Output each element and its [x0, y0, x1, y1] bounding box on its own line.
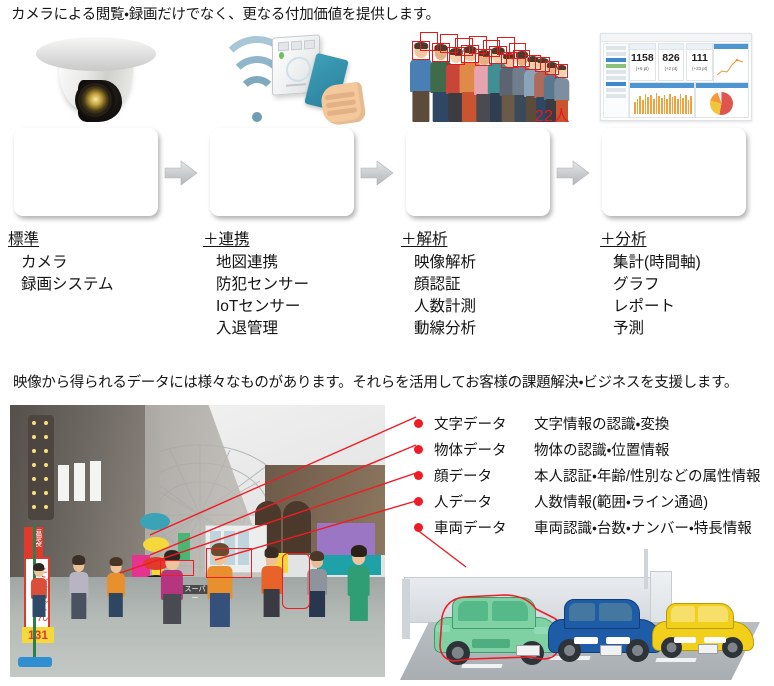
legend-desc: 車両認識・台数・ナンバー・特長情報	[534, 517, 752, 538]
feature-item: 動線分析	[401, 318, 476, 340]
kpi-card: 111 (+23 pt)	[686, 43, 713, 81]
dashboard-bar	[690, 96, 692, 114]
feature-column-2-title: ＋連携	[203, 229, 250, 251]
object-detection-outline	[282, 553, 310, 609]
kpi-card: 1158 (+6 pt)	[629, 43, 656, 81]
flow-box-4-label: ビジネスに活用する	[620, 142, 728, 202]
feature-item: 入退管理	[203, 318, 309, 340]
analytics-dashboard-image: 1158 (+6 pt) 826 (+2 pt) 111 (+23 pt)	[600, 33, 752, 121]
data-type-legend: 文字データ 文字情報の認識・変換 物体データ 物体の認識・位置情報 顔データ 本…	[420, 410, 770, 540]
feature-item: IoTセンサー	[203, 296, 309, 318]
headline-middle: 映像から得られるデータには様々なものがあります。それらを活用してお客様の課題解決…	[13, 371, 738, 392]
slide-canvas: カメラによる閲覧・録画だけでなく、更なる付加価値を提供します。 22人	[0, 0, 774, 686]
feature-column-4-title: ＋分析	[600, 229, 647, 251]
parking-lot-illustration	[400, 553, 772, 686]
dashboard-bar	[653, 99, 655, 114]
feature-column-1-title: 標準	[8, 229, 39, 251]
legend-dot	[414, 523, 423, 532]
headline-top: カメラによる閲覧・録画だけでなく、更なる付加価値を提供します。	[11, 3, 440, 24]
person-detection-box	[206, 548, 252, 578]
legend-row: 文字データ 文字情報の認識・変換	[420, 410, 770, 436]
flow-box-2-label: つなげる	[239, 157, 325, 187]
car-blue	[548, 593, 660, 663]
feature-item: 防犯センサー	[203, 274, 309, 296]
arrow-right-icon-2	[360, 160, 394, 186]
crowd-count-label: 22人	[535, 102, 570, 126]
dashboard-line-chart	[713, 43, 749, 83]
face-detection-box	[555, 64, 568, 77]
dashboard-pie-chart	[695, 82, 749, 118]
dashboard-bar	[685, 95, 687, 114]
feature-item: グラフ	[600, 274, 701, 296]
legend-row: 車両データ 車両認識・台数・ナンバー・特長情報	[420, 514, 770, 540]
dashboard-bar	[661, 98, 663, 114]
legend-name: 人データ	[420, 491, 534, 512]
feature-item: 顔認証	[401, 274, 476, 296]
dashboard-bar	[647, 97, 649, 114]
pedestrian	[68, 555, 89, 619]
dome-camera-icon	[33, 26, 159, 120]
dashboard-bar	[650, 95, 652, 114]
dashboard-bar	[672, 97, 674, 114]
supermarket-sign: スーパー	[182, 585, 208, 594]
feature-item: 集計(時間軸)	[600, 252, 701, 274]
legend-dot	[414, 445, 423, 454]
legend-name: 物体データ	[420, 439, 534, 460]
flow-box-3-label: よりよく見える	[435, 142, 521, 202]
feature-column-1: 標準 カメラ 録画システム	[8, 229, 114, 296]
price-sign: 131	[22, 627, 54, 643]
feature-item: レポート	[600, 296, 701, 318]
dashboard-bar	[682, 98, 684, 114]
car-highlight-outline	[430, 587, 566, 669]
feature-item: 映像解析	[401, 252, 476, 274]
marquee-lights	[28, 415, 54, 520]
legend-name: 顔データ	[420, 465, 534, 486]
dashboard-bar	[677, 99, 679, 114]
crowd-face-detection-image: 22人	[408, 26, 572, 122]
dashboard-bar	[656, 93, 658, 114]
legend-row: 顔データ 本人認証・年齢/性別などの属性情報	[420, 462, 770, 488]
feature-column-3: ＋解析 映像解析 顔認証 人数計測 動線分析	[401, 229, 476, 340]
kpi-card: 826 (+2 pt)	[658, 43, 685, 81]
dashboard-bar	[664, 95, 666, 114]
arrow-right-icon-1	[164, 160, 198, 186]
dashboard-bar	[669, 94, 671, 114]
dashboard-bar	[634, 102, 636, 114]
legend-dot	[414, 497, 423, 506]
flow-box-2[interactable]: つなげる	[210, 128, 354, 216]
legend-desc: 物体の認識・位置情報	[534, 439, 669, 460]
hand-icon	[319, 81, 366, 126]
pedestrian	[346, 545, 371, 621]
legend-row: 人データ 人数情報(範囲・ライン通過)	[420, 488, 770, 514]
dashboard-bar	[637, 99, 639, 114]
dashboard-bar	[680, 94, 682, 114]
pedestrian	[30, 563, 48, 617]
dashboard-bar	[642, 100, 644, 114]
dashboard-bar-chart	[629, 82, 695, 118]
feature-item: カメラ	[8, 252, 114, 274]
person-detection-box-2	[160, 560, 194, 576]
dashboard-bar	[674, 96, 676, 114]
feature-column-3-title: ＋解析	[401, 229, 448, 251]
dashboard-bar	[639, 96, 641, 114]
dashboard-sidebar	[603, 43, 629, 118]
dashboard-bar	[645, 94, 647, 114]
feature-item: 人数計測	[401, 296, 476, 318]
shopping-arcade-photo: 福袋 そばうどん 131 スーパー	[10, 405, 385, 677]
feature-item: 地図連携	[203, 252, 309, 274]
dashboard-kpis: 1158 (+6 pt) 826 (+2 pt) 111 (+23 pt)	[629, 43, 713, 81]
dashboard-bar	[666, 99, 668, 114]
legend-desc: 人数情報(範囲・ライン通過)	[534, 491, 708, 512]
feature-item: 録画システム	[8, 274, 114, 296]
flow-box-4[interactable]: ビジネスに活用する	[602, 128, 746, 216]
camera-lens	[81, 86, 109, 114]
pedestrian	[106, 557, 126, 617]
legend-desc: 本人認証・年齢/性別などの属性情報	[534, 465, 760, 486]
feature-column-4: ＋分析 集計(時間軸) グラフ レポート 予測	[600, 229, 701, 340]
flow-box-1-label: 見る・録る	[39, 157, 133, 187]
pedestrian	[260, 547, 283, 617]
legend-desc: 文字情報の認識・変換	[534, 413, 669, 434]
flow-box-3[interactable]: よりよく見える	[406, 128, 550, 216]
feature-item: 予測	[600, 318, 701, 340]
dashboard-bar	[658, 96, 660, 114]
dashboard-bar	[688, 100, 690, 114]
legend-row: 物体データ 物体の認識・位置情報	[420, 436, 770, 462]
network-connect-icon	[214, 30, 366, 122]
legend-dot	[414, 419, 423, 428]
legend-dot	[414, 471, 423, 480]
feature-column-2: ＋連携 地図連携 防犯センサー IoTセンサー 入退管理	[203, 229, 309, 340]
flow-box-1[interactable]: 見る・録る	[14, 128, 158, 216]
legend-name: 文字データ	[420, 413, 534, 434]
legend-name: 車両データ	[420, 517, 534, 538]
car-yellow	[652, 597, 752, 661]
arrow-right-icon-3	[556, 160, 590, 186]
